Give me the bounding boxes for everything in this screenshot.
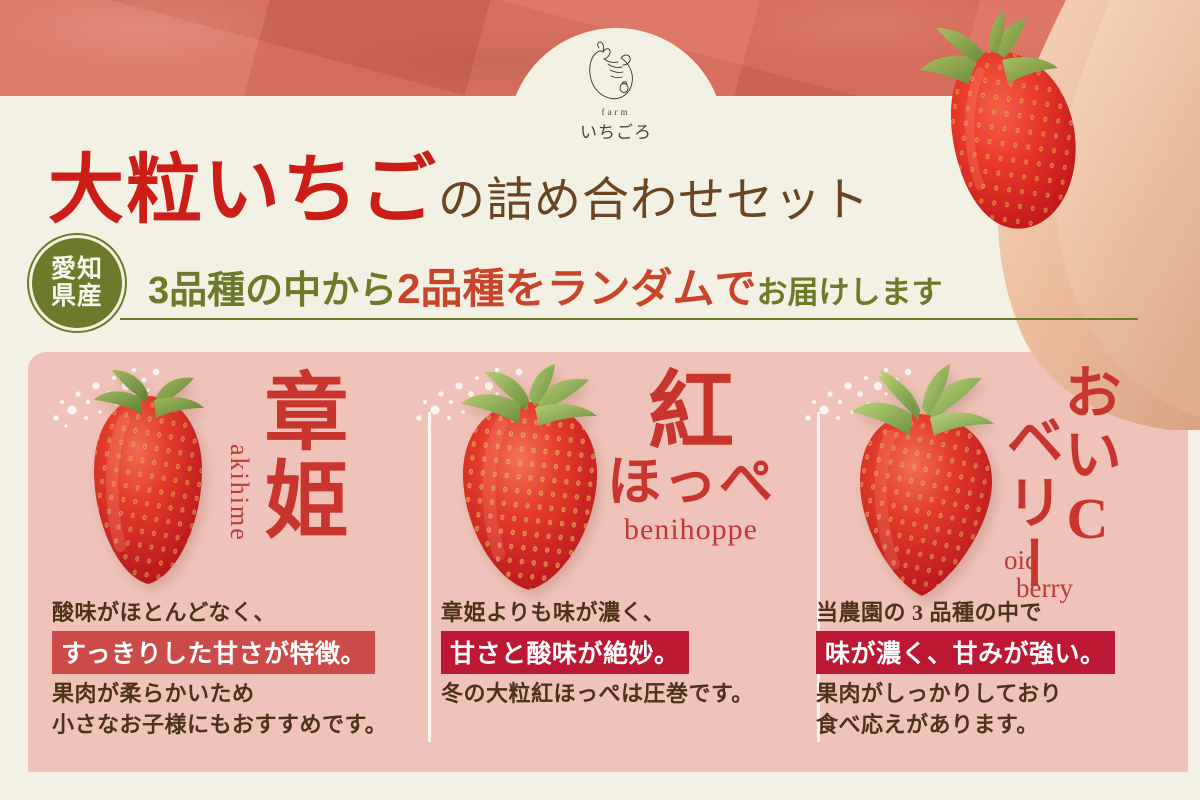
subtitle-part2: 2品種をランダムで <box>397 265 756 312</box>
origin-badge: 愛知 県産 <box>32 238 122 328</box>
variety-name-romaji: benihoppe <box>601 515 781 545</box>
desc-top-line: 酸味がほとんどなく、 <box>52 597 387 628</box>
variety-card-benihoppe[interactable]: 紅 ほっぺ benihoppe 章姫よりも味が濃く、 甘さと酸味が絶妙。 冬の大… <box>403 352 789 772</box>
variety-name-romaji-1: oic <box>1004 546 1073 574</box>
variety-name-benihoppe: 紅 ほっぺ benihoppe <box>601 370 781 545</box>
desc-highlight: 味が濃く、甘みが強い。 <box>816 631 1115 674</box>
variety-name-jp-line1: 紅 <box>601 370 781 454</box>
variety-name-akihime: 章姫 akihime <box>226 368 340 544</box>
variety-card-oicberry[interactable]: おいC ベリー oic berry 当農園の 3 品種の中で 味が濃く、甘みが強… <box>792 352 1188 772</box>
desc-highlight: すっきりした甘さが特徴。 <box>52 631 375 674</box>
logo-farm-label: farm <box>602 107 631 117</box>
variety-name-jp-col1: おいC <box>1058 362 1116 555</box>
hand-holding-strawberry-icon <box>575 36 657 104</box>
desc-highlight: 甘さと酸味が絶妙。 <box>441 631 689 674</box>
variety-description-benihoppe: 章姫よりも味が濃く、 甘さと酸味が絶妙。 冬の大粒紅ほっぺは圧巻です。 <box>441 597 754 709</box>
desc-bottom-line-2: 食べ応えがあります。 <box>816 709 1115 740</box>
subtitle: 3品種の中から2品種をランダムでお届けします <box>148 255 943 316</box>
page-title-rest: の詰め合わせセット <box>438 175 870 227</box>
variety-description-akihime: 酸味がほとんどなく、 すっきりした甘さが特徴。 果肉が柔らかいため 小さなお子様… <box>52 597 387 741</box>
variety-card-akihime[interactable]: 章姫 akihime 酸味がほとんどなく、 すっきりした甘さが特徴。 果肉が柔ら… <box>28 352 400 772</box>
subtitle-underline <box>120 318 1138 320</box>
desc-top-line: 章姫よりも味が濃く、 <box>441 597 754 628</box>
subtitle-part1: 3品種の中から <box>148 270 397 312</box>
desc-bottom-line-2: 小さなお子様にもおすすめです。 <box>52 709 387 740</box>
variety-name-romaji: akihime <box>226 444 252 542</box>
variety-romaji-oicberry: oic berry <box>1004 546 1073 602</box>
strawberry-akihime-photo <box>68 370 228 600</box>
page-title: 大粒いちごの詰め合わせセット <box>48 128 870 238</box>
desc-bottom-line-1: 果肉が柔らかいため <box>52 678 387 709</box>
strawberry-oicberry-photo <box>834 358 1019 608</box>
variety-name-jp: 章姫 <box>256 368 340 544</box>
desc-bottom-line-1: 果肉がしっかりしており <box>816 678 1115 709</box>
desc-bottom-line-1: 冬の大粒紅ほっぺは圧巻です。 <box>441 678 754 709</box>
desc-top-line: 当農園の 3 品種の中で <box>816 597 1115 628</box>
origin-badge-line1: 愛知 <box>51 256 103 283</box>
subtitle-part3: お届けします <box>757 275 943 310</box>
page-title-emphasis: 大粒いちご <box>48 149 438 233</box>
origin-badge-line2: 県産 <box>51 283 103 310</box>
variety-name-jp-line2: ほっぺ <box>601 456 781 509</box>
strawberry-benihoppe-photo <box>441 364 621 604</box>
variety-description-oicberry: 当農園の 3 品種の中で 味が濃く、甘みが強い。 果肉がしっかりしており 食べ応… <box>816 597 1115 741</box>
